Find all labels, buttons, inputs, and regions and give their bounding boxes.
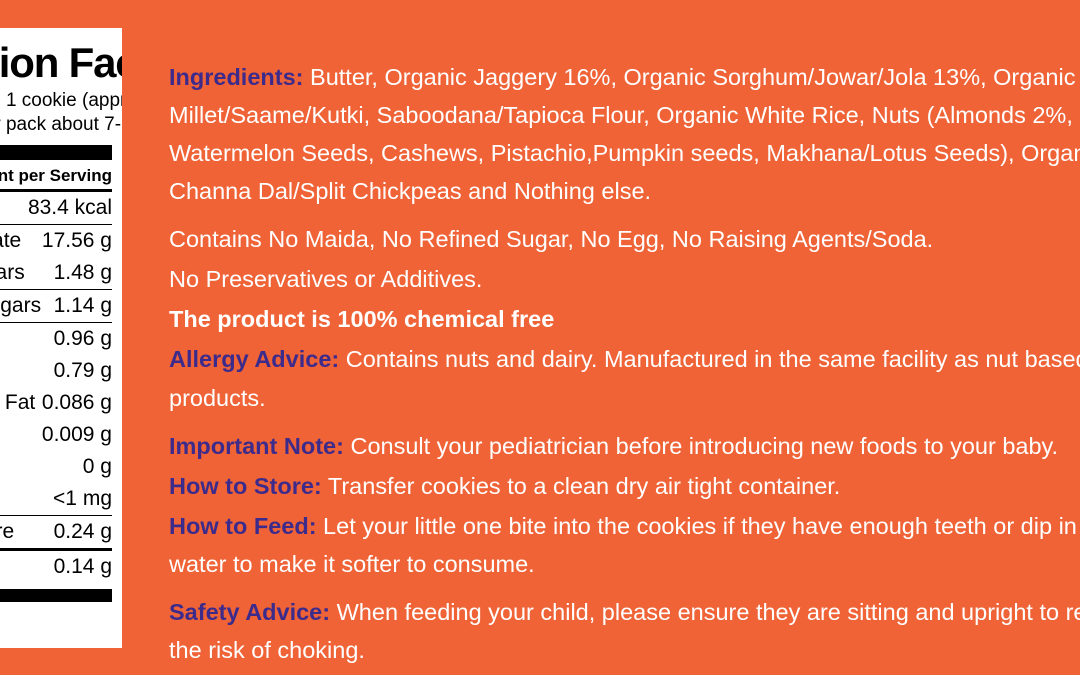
how-to-feed-label: How to Feed: [169, 513, 317, 539]
table-row: Total Sugars 1.48 g [0, 257, 112, 289]
table-row: Sodium <1 mg [0, 483, 112, 515]
table-row: Protein 0.96 g [0, 323, 112, 355]
nutrition-facts-title: Nutrition Facts [0, 42, 112, 85]
table-row: Dietary Fibre 0.24 g [0, 516, 112, 548]
how-to-store-block: How to Store: Transfer cookies to a clea… [169, 467, 1080, 505]
no-preservatives-block: No Preservatives or Additives. [169, 260, 1080, 298]
nutrient-value: 1.48 g [54, 261, 112, 285]
nutrient-value: 83.4 kcal [28, 196, 112, 220]
table-row: Total Ash 0.14 g [0, 551, 112, 583]
nutrient-label: Dietary Fibre [0, 520, 22, 544]
serving-size-text: Serving Size 1 cookie (approx 20g) [0, 89, 112, 113]
no-preservatives-text: No Preservatives or Additives. [169, 266, 482, 292]
table-row: Saturated Fat 0.086 g [0, 387, 112, 419]
how-to-feed-block: How to Feed: Let your little one bite in… [169, 507, 1080, 583]
amount-per-serving-header: Amount per Serving [0, 164, 112, 189]
nutrient-value: 0 g [83, 455, 112, 479]
chemical-free-text: The product is 100% chemical free [169, 306, 554, 332]
nutrient-label: Cholesterol [0, 455, 8, 479]
important-note-text: Consult your pediatrician before introdu… [344, 433, 1058, 459]
nutrient-value: 0.96 g [54, 327, 112, 351]
servings-per-container-text: Servings per pack about 7-8 [0, 113, 112, 137]
ingredients-text: Butter, Organic Jaggery 16%, Organic Sor… [169, 64, 1080, 204]
nutrient-label: Carbohydrate [0, 229, 29, 253]
table-row: Energy 83.4 kcal [0, 192, 112, 224]
contains-no-block: Contains No Maida, No Refined Sugar, No … [169, 220, 1080, 258]
contains-no-text: Contains No Maida, No Refined Sugar, No … [169, 226, 933, 252]
product-info-column: Ingredients: Butter, Organic Jaggery 16%… [169, 58, 1080, 669]
table-row: Carbohydrate 17.56 g [0, 225, 112, 257]
nutrition-divider-thick-top [0, 145, 112, 160]
how-to-store-text: Transfer cookies to a clean dry air tigh… [322, 473, 841, 499]
important-note-block: Important Note: Consult your pediatricia… [169, 427, 1080, 465]
nutrient-label: Saturated Fat [0, 391, 42, 415]
ingredients-label: Ingredients: [169, 64, 303, 90]
allergy-advice-block: Allergy Advice: Contains nuts and dairy.… [169, 340, 1080, 416]
nutrient-value: 0.009 g [42, 423, 112, 447]
safety-advice-block: Safety Advice: When feeding your child, … [169, 593, 1080, 669]
nutrient-label: Total Sugars [0, 261, 33, 285]
table-row: Trans Fat 0.009 g [0, 419, 112, 451]
nutrient-value: 0.79 g [54, 359, 112, 383]
safety-advice-label: Safety Advice: [169, 599, 330, 625]
allergy-advice-label: Allergy Advice: [169, 346, 339, 372]
table-row: Total Fat 0.79 g [0, 355, 112, 387]
nutrient-value: 0.24 g [54, 520, 112, 544]
how-to-store-label: How to Store: [169, 473, 322, 499]
nutrient-value: 17.56 g [42, 229, 112, 253]
nutrient-value: 0.14 g [54, 555, 112, 579]
nutrient-value: 0.086 g [42, 391, 112, 415]
ingredients-block: Ingredients: Butter, Organic Jaggery 16%… [169, 58, 1080, 210]
nutrient-label: Added Sugars [0, 294, 49, 318]
nutrient-label: Trans Fat [0, 423, 5, 447]
product-label-page: Nutrition Facts Serving Size 1 cookie (a… [0, 0, 1080, 675]
nutrition-facts-panel: Nutrition Facts Serving Size 1 cookie (a… [0, 28, 122, 648]
nutrition-divider-thick-bottom [0, 589, 112, 602]
nutrient-value: 1.14 g [54, 294, 112, 318]
table-row: Added Sugars 1.14 g [0, 290, 112, 322]
table-row: Cholesterol 0 g [0, 451, 112, 483]
important-note-label: Important Note: [169, 433, 344, 459]
nutrient-value: <1 mg [53, 487, 112, 511]
chemical-free-block: The product is 100% chemical free [169, 300, 1080, 338]
